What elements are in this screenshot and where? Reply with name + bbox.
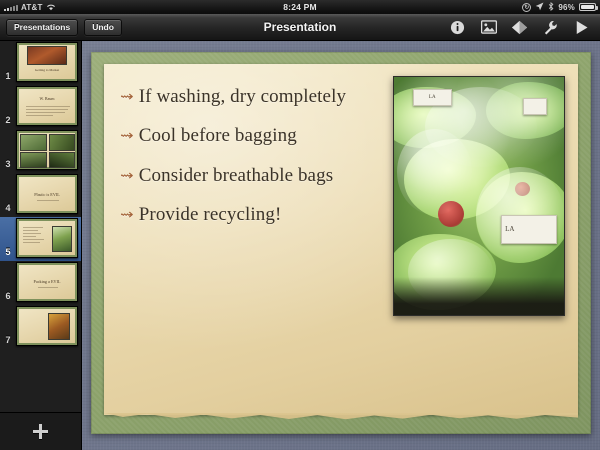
wifi-icon <box>46 3 55 11</box>
thumb-photo <box>48 313 70 340</box>
slide-navigator-sidebar[interactable]: 1 Getting to Market 2 W. Baum <box>0 41 82 450</box>
slide-thumbnail-7[interactable]: 7 <box>0 305 81 349</box>
play-icon[interactable] <box>573 19 590 36</box>
thumb-photo <box>49 152 75 168</box>
thumb-photo <box>27 46 67 65</box>
status-bar-left: AT&T <box>0 3 150 12</box>
bullet-arrow-icon: ⇝ <box>120 90 133 104</box>
thumb-title: Plastic is EVIL <box>21 192 73 197</box>
thumb-photo <box>49 134 75 151</box>
thumbnail-image[interactable]: Plastic is EVIL <box>16 174 78 214</box>
bullet-text: Consider breathable bags <box>139 165 333 187</box>
bullet-arrow-icon: ⇝ <box>120 208 133 222</box>
photo-shadow-overlay <box>394 277 564 315</box>
status-bar-clock: 8:24 PM <box>150 2 450 12</box>
slide-thumbnail-1[interactable]: 1 Getting to Market <box>0 41 81 85</box>
thumb-title: W. Baum <box>21 96 73 101</box>
toolbar-left-group: Presentations Undo <box>6 19 122 36</box>
tools-wrench-icon[interactable] <box>542 19 559 36</box>
info-icon[interactable] <box>449 19 466 36</box>
slide-thumbnail-5[interactable]: 5 <box>0 217 81 261</box>
photo-label-tag: LA <box>413 89 452 106</box>
thumbnail-image[interactable]: Packing a EVIL <box>16 262 78 302</box>
slide-thumbnail-4[interactable]: 4 Plastic is EVIL <box>0 173 81 217</box>
slide-number: 3 <box>0 159 16 170</box>
thumb-photo <box>20 152 47 168</box>
thumb-title: Packing a EVIL <box>21 279 73 284</box>
bullet-arrow-icon: ⇝ <box>120 129 133 143</box>
bullet-item[interactable]: ⇝ If washing, dry completely <box>121 86 351 108</box>
battery-percent-label: 96% <box>558 3 575 12</box>
bluetooth-icon <box>548 2 554 13</box>
slide-thumbnail-6[interactable]: 6 Packing a EVIL <box>0 261 81 305</box>
bullet-item[interactable]: ⇝ Provide recycling! <box>121 204 351 226</box>
add-slide-bar[interactable] <box>0 412 81 450</box>
battery-icon <box>579 3 596 11</box>
thumbnail-image[interactable]: Getting to Market <box>16 42 78 82</box>
bagged-salad-greens-photo[interactable]: LA LA <box>393 76 565 316</box>
slide-number: 4 <box>0 203 16 214</box>
thumbnail-image[interactable] <box>16 130 78 170</box>
slide-canvas[interactable]: ⇝ If washing, dry completely ⇝ Cool befo… <box>82 41 600 450</box>
thumb-body-lines <box>26 106 70 118</box>
slide-number: 1 <box>0 71 16 82</box>
carrier-label: AT&T <box>21 3 43 12</box>
slide-bullet-list[interactable]: ⇝ If washing, dry completely ⇝ Cool befo… <box>121 86 351 244</box>
bullet-text: If washing, dry completely <box>139 86 346 108</box>
toolbar-right-group <box>449 19 594 36</box>
thumbnail-image[interactable] <box>16 306 78 346</box>
add-slide-button[interactable] <box>33 424 48 439</box>
thumb-photo <box>20 134 47 151</box>
status-bar-right: ↻ 96% <box>450 2 600 13</box>
signal-bars-icon <box>4 4 18 11</box>
location-arrow-icon <box>535 2 544 13</box>
slide-number: 5 <box>0 247 16 258</box>
thumbnail-image[interactable]: W. Baum <box>16 86 78 126</box>
presentations-button[interactable]: Presentations <box>6 19 78 36</box>
slide-frame[interactable]: ⇝ If washing, dry completely ⇝ Cool befo… <box>91 52 591 434</box>
thumb-subtitle-line <box>38 287 58 290</box>
bullet-item[interactable]: ⇝ Consider breathable bags <box>121 165 351 187</box>
rotation-lock-icon: ↻ <box>522 3 531 12</box>
app-toolbar: Presentations Undo Presentation <box>0 14 600 41</box>
thumb-subtitle-line <box>37 200 59 203</box>
shapes-diamond-icon[interactable] <box>511 19 528 36</box>
thumbnail-image[interactable] <box>16 218 78 258</box>
media-image-icon[interactable] <box>480 19 497 36</box>
slide-number: 2 <box>0 115 16 126</box>
photo-label-tag-2: LA <box>501 215 557 244</box>
bullet-text: Provide recycling! <box>139 204 282 226</box>
thumb-photo <box>52 226 72 252</box>
slide-thumbnail-2[interactable]: 2 W. Baum <box>0 85 81 129</box>
thumb-title: Getting to Market <box>21 68 73 72</box>
slide-thumbnail-3[interactable]: 3 <box>0 129 81 173</box>
slide-thumbnail-list[interactable]: 1 Getting to Market 2 W. Baum <box>0 41 81 412</box>
ios-status-bar: AT&T 8:24 PM ↻ 96% <box>0 0 600 14</box>
undo-button[interactable]: Undo <box>84 19 122 36</box>
presentation-app: AT&T 8:24 PM ↻ 96% Presentations Undo Pr… <box>0 0 600 450</box>
bullet-arrow-icon: ⇝ <box>120 169 133 183</box>
bullet-item[interactable]: ⇝ Cool before bagging <box>121 125 351 147</box>
slide-number: 6 <box>0 291 16 302</box>
thumb-bullet-lines <box>23 227 49 245</box>
bullet-text: Cool before bagging <box>139 125 297 147</box>
photo-label-tag-blank <box>523 98 547 115</box>
slide-number: 7 <box>0 335 16 346</box>
